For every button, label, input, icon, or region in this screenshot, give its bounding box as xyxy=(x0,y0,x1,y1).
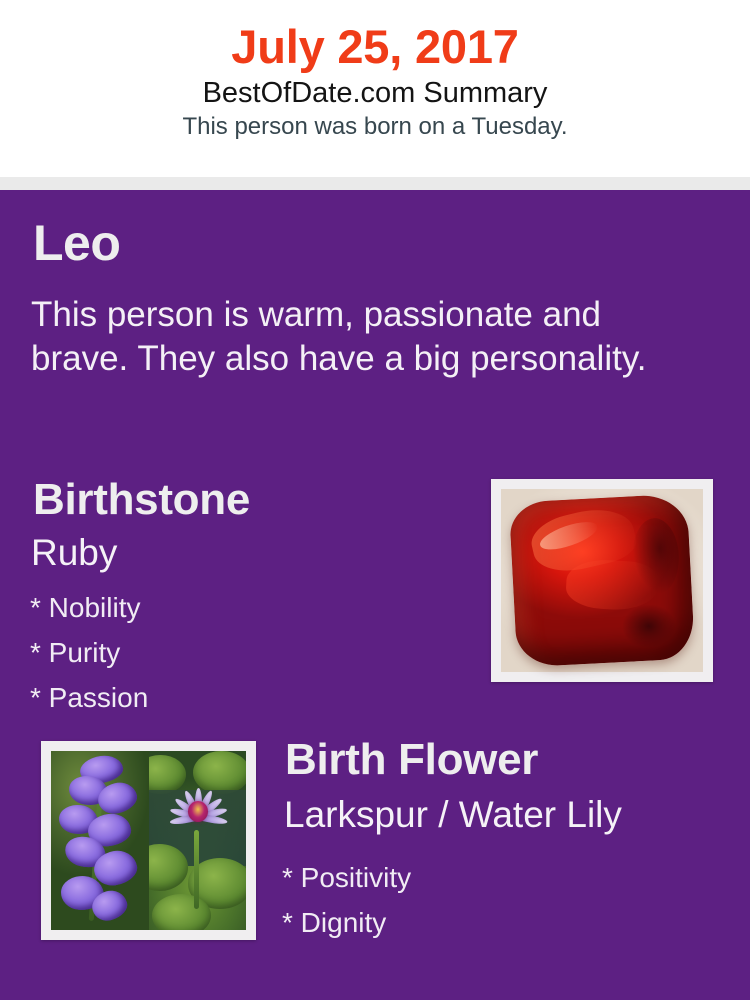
ruby-gemstone-photo xyxy=(501,489,703,672)
ruby-shadow-bottom xyxy=(621,603,676,649)
list-item: * Dignity xyxy=(282,900,411,945)
birthstone-heading: Birthstone xyxy=(33,478,250,522)
birth-flower-image-frame xyxy=(41,741,256,940)
summary-page: July 25, 2017 BestOfDate.com Summary Thi… xyxy=(0,0,750,1000)
header-divider xyxy=(0,177,750,190)
lily-pad xyxy=(152,894,211,930)
birth-flower-trait-list: * Positivity * Dignity xyxy=(282,855,411,945)
page-title-date: July 25, 2017 xyxy=(0,0,750,71)
list-item: * Passion xyxy=(30,675,148,720)
zodiac-description: This person is warm, passionate and brav… xyxy=(31,293,691,381)
water-lily-bloom xyxy=(168,783,228,844)
birthstone-image-frame xyxy=(491,479,713,682)
list-item: * Purity xyxy=(30,630,148,675)
birth-day-tagline: This person was born on a Tuesday. xyxy=(0,109,750,141)
birth-flower-heading: Birth Flower xyxy=(285,738,538,782)
ruby-crystal-shape xyxy=(509,494,695,668)
water-lily-photo-panel xyxy=(149,751,247,930)
birthstone-trait-list: * Nobility * Purity * Passion xyxy=(30,585,148,720)
list-item: * Positivity xyxy=(282,855,411,900)
larkspur-photo-panel xyxy=(51,751,149,930)
birthstone-name: Ruby xyxy=(31,534,117,571)
list-item: * Nobility xyxy=(30,585,148,630)
page-header: July 25, 2017 BestOfDate.com Summary Thi… xyxy=(0,0,750,177)
zodiac-sign-title: Leo xyxy=(33,218,120,268)
site-name-subtitle: BestOfDate.com Summary xyxy=(0,71,750,109)
birth-flower-name: Larkspur / Water Lily xyxy=(284,796,622,833)
larkspur-water-lily-photo xyxy=(51,751,246,930)
